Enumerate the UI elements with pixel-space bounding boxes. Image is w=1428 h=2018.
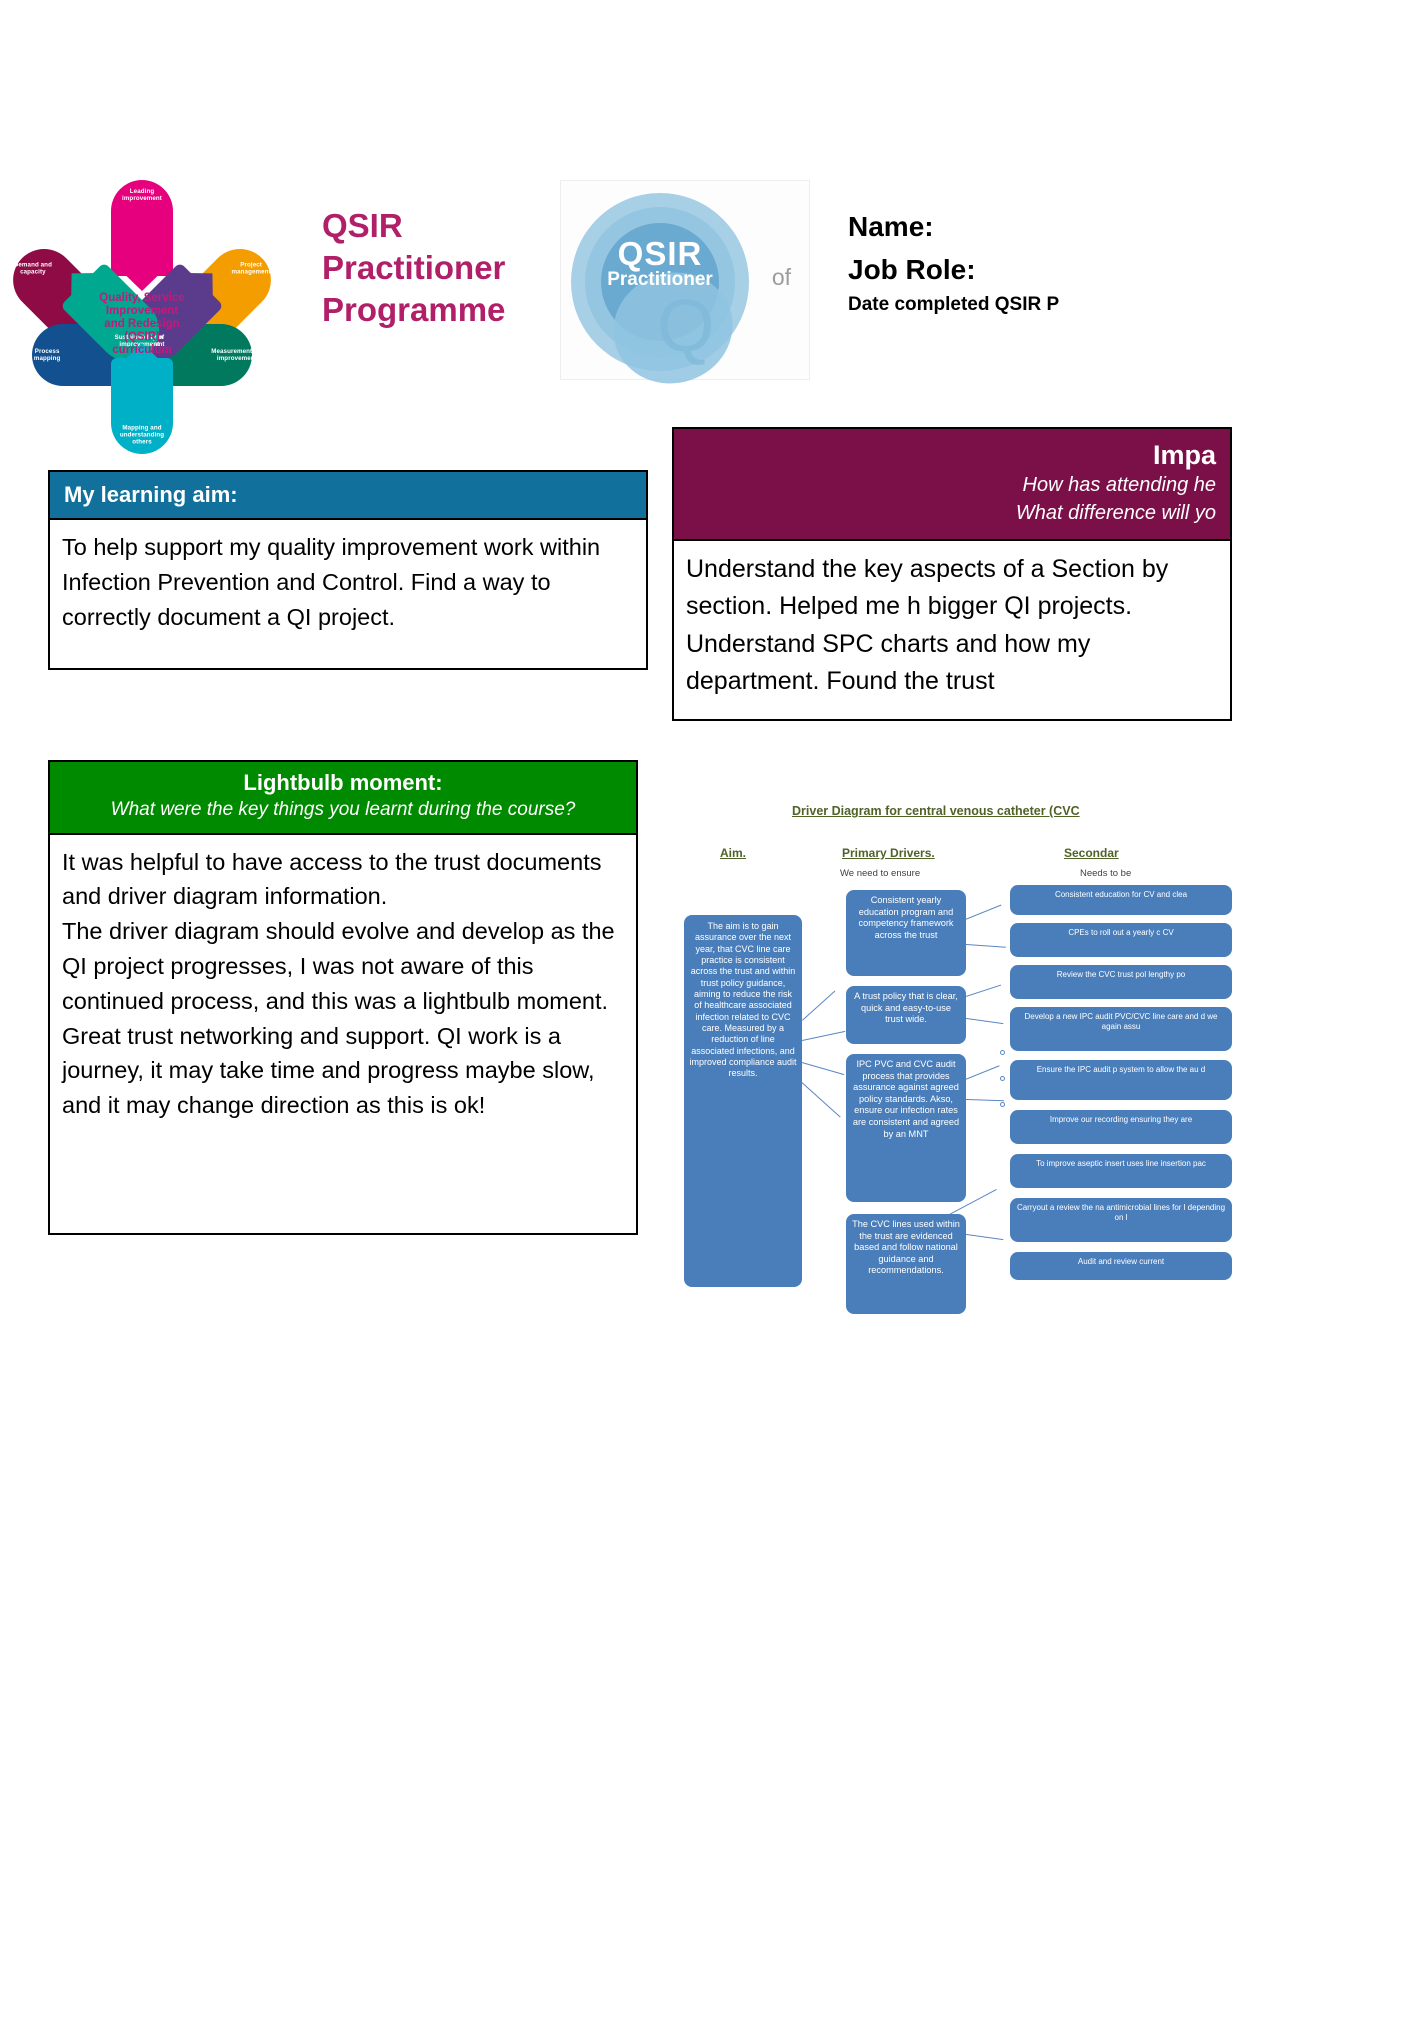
- driver-diagram-primary-box: Consistent yearly education program and …: [846, 890, 966, 976]
- programme-title: QSIR Practitioner Programme: [322, 205, 552, 332]
- petal-leading-improvement: Leading improvement: [111, 180, 173, 276]
- petal-label: Measurement for improvement: [211, 348, 263, 362]
- card-lightbulb-moment: Lightbulb moment: What were the key thin…: [48, 760, 638, 1235]
- card-impact-subtitle-line1: How has attending he: [688, 473, 1216, 499]
- driver-diagram-primary-box: IPC PVC and CVC audit process that provi…: [846, 1054, 966, 1202]
- logo-center-line: and Redesign: [94, 318, 190, 331]
- card-impact-header: Impa How has attending he What differenc…: [672, 427, 1232, 541]
- petal-label: Demand and capacity: [7, 262, 59, 276]
- logo-center-line: Improvement: [94, 305, 190, 318]
- logo-center-line: (QSIR): [94, 331, 190, 344]
- driver-diagram-secondary-box: Develop a new IPC audit PVC/CVC line car…: [1010, 1007, 1232, 1051]
- driver-diagram-secondary-box: Consistent education for CV and clea: [1010, 885, 1232, 915]
- driver-diagram-title: Driver Diagram for central venous cathet…: [792, 804, 1232, 818]
- driver-diagram-secondary-box: To improve aseptic insert uses line inse…: [1010, 1154, 1232, 1188]
- driver-diagram-primary-box: The CVC lines used within the trust are …: [846, 1214, 966, 1314]
- lightbulb-paragraph: It was helpful to have access to the tru…: [62, 845, 624, 915]
- driver-diagram-secondary-box: Improve our recording ensuring they are: [1010, 1110, 1232, 1144]
- badge-practitioner-text: Practitioner: [561, 270, 759, 291]
- driver-diagram-primary-sub: We need to ensure: [840, 868, 920, 879]
- driver-diagram-secondary-box: CPEs to roll out a yearly c CV: [1010, 923, 1232, 957]
- petal-label: Leading improvement: [116, 188, 168, 202]
- petal-label: Process mapping: [21, 348, 73, 362]
- card-learning-aim-title: My learning aim:: [64, 482, 632, 508]
- qsir-curriculum-flower-logo: Leading improvement Demand and capacity …: [36, 180, 248, 380]
- date-completed-label: Date completed QSIR P: [848, 291, 1418, 320]
- connector-node: [1000, 1050, 1005, 1055]
- badge-of-label: of: [772, 264, 791, 291]
- connector-line: [802, 1031, 845, 1041]
- driver-diagram-secondary-box: Audit and review current: [1010, 1252, 1232, 1280]
- lightbulb-paragraph: Great trust networking and support. QI w…: [62, 1019, 624, 1123]
- connector-node: [1000, 1076, 1005, 1081]
- connector-node: [1000, 1102, 1005, 1107]
- card-lightbulb-header: Lightbulb moment: What were the key thin…: [48, 760, 638, 835]
- card-impact-body[interactable]: Understand the key aspects of a Section …: [672, 541, 1232, 721]
- card-learning-aim-header: My learning aim:: [48, 470, 648, 520]
- qsir-practitioner-badge: Q QSIR Practitioner of: [560, 180, 810, 380]
- petal-label: Project management: [225, 262, 277, 276]
- driver-diagram-secondary-box: Review the CVC trust pol lengthy po: [1010, 965, 1232, 999]
- job-role-label: Job Role:: [848, 249, 1418, 292]
- driver-diagram-primary-box: A trust policy that is clear, quick and …: [846, 986, 966, 1044]
- logo-center-text: Quality, Service Improvement and Redesig…: [94, 292, 190, 356]
- badge-text: QSIR Practitioner: [561, 237, 759, 291]
- petal-mapping-and-understanding-others: Mapping and understanding others: [111, 358, 173, 454]
- connector-line: [802, 1062, 845, 1075]
- driver-diagram-secondary-box: Ensure the IPC audit p system to allow t…: [1010, 1060, 1232, 1100]
- logo-center-line: Quality, Service: [94, 292, 190, 305]
- programme-title-line: Practitioner: [322, 247, 552, 289]
- name-label: Name:: [848, 206, 1418, 249]
- participant-details: Name: Job Role: Date completed QSIR P: [848, 206, 1418, 320]
- logo-center-line: curriculum: [94, 344, 190, 357]
- card-lightbulb-body[interactable]: It was helpful to have access to the tru…: [48, 835, 638, 1235]
- impact-paragraph: Understand the key aspects of a Section …: [686, 551, 1218, 626]
- learning-aim-text: To help support my quality improvement w…: [62, 530, 634, 634]
- connector-line: [801, 1082, 840, 1118]
- card-impact-subtitle-line2: What difference will yo: [688, 501, 1216, 527]
- lightbulb-paragraph: The driver diagram should evolve and dev…: [62, 914, 624, 1018]
- programme-title-line: QSIR: [322, 205, 552, 247]
- programme-title-line: Programme: [322, 289, 552, 331]
- card-impact: Impa How has attending he What differenc…: [672, 427, 1232, 721]
- driver-diagram-secondary-sub: Needs to be: [1080, 868, 1131, 879]
- petal-label: Mapping and understanding others: [116, 425, 168, 446]
- card-learning-aim-body[interactable]: To help support my quality improvement w…: [48, 520, 648, 670]
- card-impact-title: Impa: [688, 439, 1216, 471]
- card-lightbulb-title: Lightbulb moment:: [60, 770, 626, 796]
- connector-line: [802, 991, 835, 1021]
- driver-diagram-secondary-box: Carryout a review the na antimicrobial l…: [1010, 1198, 1232, 1242]
- job-role-text: Job Role: [848, 254, 966, 285]
- card-lightbulb-subtitle: What were the key things you learnt duri…: [60, 798, 626, 822]
- card-learning-aim: My learning aim: To help support my qual…: [48, 470, 648, 670]
- driver-diagram: Driver Diagram for central venous cathet…: [672, 790, 1232, 1320]
- badge-qsir-text: QSIR: [561, 237, 759, 270]
- impact-paragraph: Understand SPC charts and how my departm…: [686, 626, 1218, 701]
- driver-diagram-column-heading-aim: Aim.: [720, 846, 746, 860]
- driver-diagram-column-heading-secondary: Secondar: [1064, 846, 1119, 860]
- job-role-colon: :: [966, 254, 975, 285]
- driver-diagram-column-heading-primary: Primary Drivers.: [842, 846, 935, 860]
- page-header: Leading improvement Demand and capacity …: [0, 0, 1428, 400]
- badge-watermark-letter: Q: [657, 289, 715, 363]
- driver-diagram-aim-box: The aim is to gain assurance over the ne…: [684, 915, 802, 1287]
